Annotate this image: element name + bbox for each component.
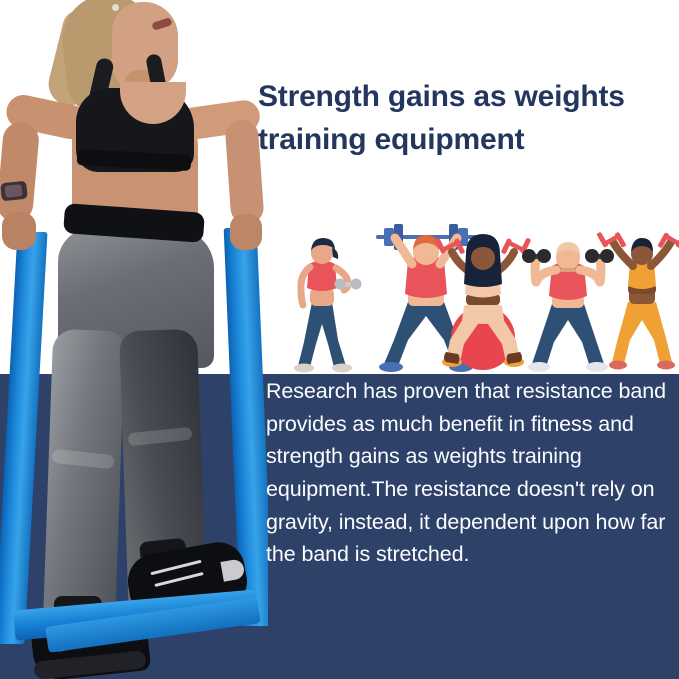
model-earring	[112, 4, 119, 11]
model-smartwatch-face	[4, 184, 22, 198]
figure-woman-arms-raised	[596, 228, 679, 374]
body-paragraph: Research has proven that resistance band…	[266, 375, 674, 571]
resistance-band-left-strand	[0, 232, 48, 644]
model-left-hand	[2, 212, 36, 250]
product-infographic-banner: Strength gains as weights training equip…	[0, 0, 679, 679]
model-left-forearm	[0, 121, 40, 224]
model-right-hand	[230, 214, 262, 250]
model-left-leg	[43, 329, 125, 631]
exercise-illustration-row	[278, 222, 679, 374]
page-title: Strength gains as weights training equip…	[258, 76, 672, 161]
figure-woman-bicep-curl	[282, 234, 368, 374]
model-photo	[0, 0, 268, 679]
